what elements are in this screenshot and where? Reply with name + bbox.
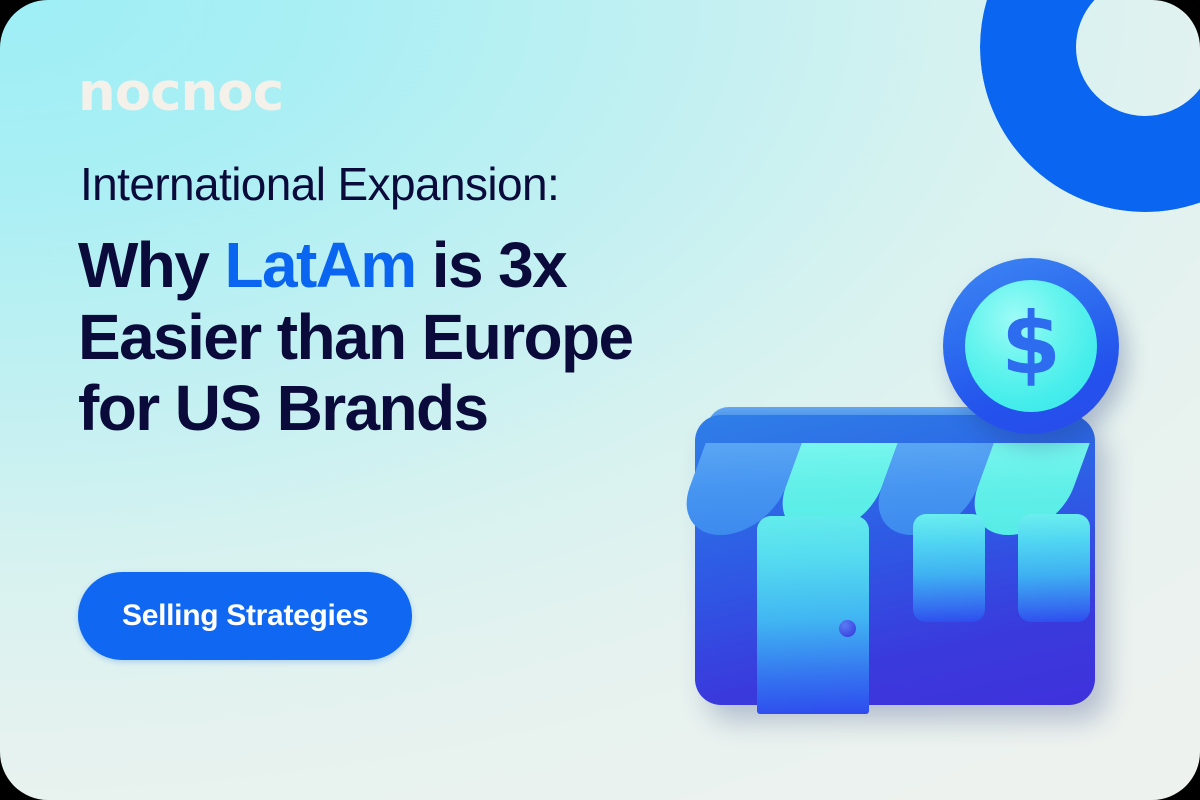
coin-face: $: [965, 280, 1097, 412]
storefront-window: [1018, 514, 1090, 622]
donut-arc-decoration: [980, 0, 1200, 212]
blog-promo-card: nocnoc International Expansion: Why LatA…: [0, 0, 1200, 800]
category-tag-button[interactable]: Selling Strategies: [78, 572, 412, 660]
brand-logo[interactable]: nocnoc: [78, 66, 283, 119]
dollar-coin-icon: $: [943, 258, 1119, 434]
dollar-sign-icon: $: [1001, 301, 1061, 387]
storefront-window: [913, 514, 985, 622]
storefront-illustration: $: [675, 250, 1145, 720]
headline-line-1-before: Why: [78, 229, 224, 301]
eyebrow-text: International Expansion:: [80, 160, 559, 209]
headline-line-1-after: is 3x: [416, 229, 567, 301]
door-knob-icon: [839, 620, 856, 637]
headline-highlight-latam: LatAm: [224, 229, 415, 301]
storefront-door: [757, 516, 869, 714]
